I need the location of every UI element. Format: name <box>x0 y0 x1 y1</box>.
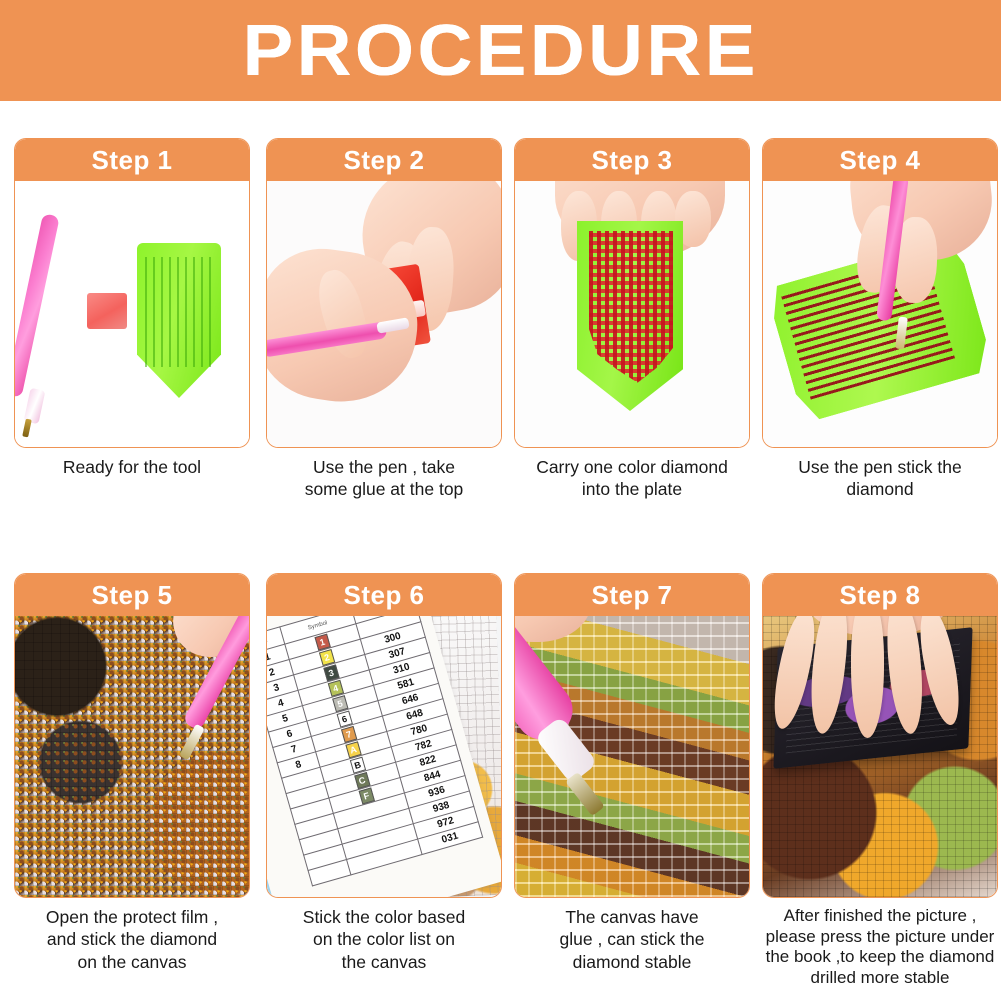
step-1-photo <box>15 181 249 447</box>
step-5-illustration <box>15 616 249 897</box>
sunflower-canvas-mosaic-icon <box>15 616 249 897</box>
step-7-card-frame: Step 7 <box>514 573 750 898</box>
step-card-3: Step 3 Carry one color diamond into the … <box>514 138 750 448</box>
step-4-card-frame: Step 4 <box>762 138 998 448</box>
step-3-illustration <box>515 181 749 447</box>
step-6-badge-label: Step 6 <box>343 582 424 608</box>
step-4-badge-label: Step 4 <box>839 147 920 173</box>
step-2-caption: Use the pen , take some glue at the top <box>266 456 502 501</box>
step-1-badge: Step 1 <box>15 139 249 181</box>
pen-tip-icon <box>22 419 32 438</box>
step-2-badge: Step 2 <box>267 139 501 181</box>
step-3-caption: Carry one color diamond into the plate <box>514 456 750 501</box>
step-7-badge-label: Step 7 <box>591 582 672 608</box>
step-8-photo <box>763 616 997 897</box>
step-6-illustration: No. Symbol DMC 1122300333074431055581666… <box>267 616 501 897</box>
step-5-photo <box>15 616 249 897</box>
step-8-badge: Step 8 <box>763 574 997 616</box>
step-3-photo <box>515 181 749 447</box>
step-card-7: Step 7 The canvas have glue , can stick … <box>514 573 750 898</box>
step-1-illustration <box>15 181 249 447</box>
step-1-caption: Ready for the tool <box>14 456 250 478</box>
steps-row-top: Step 1 Ready for the tool <box>0 138 1001 538</box>
step-7-badge: Step 7 <box>515 574 749 616</box>
step-5-card-frame: Step 5 <box>14 573 250 898</box>
step-5-caption: Open the protect film , and stick the di… <box>14 906 250 973</box>
step-3-badge-label: Step 3 <box>591 147 672 173</box>
step-2-card-frame: Step 2 <box>266 138 502 448</box>
step-card-2: Step 2 Use the pen , <box>266 138 502 448</box>
step-8-badge-label: Step 8 <box>839 582 920 608</box>
step-7-caption: The canvas have glue , can stick the dia… <box>514 906 750 973</box>
step-8-card-frame: Step 8 <box>762 573 998 898</box>
step-2-badge-label: Step 2 <box>343 147 424 173</box>
pink-pen-icon <box>15 213 60 397</box>
step-4-photo <box>763 181 997 447</box>
step-6-caption: Stick the color based on the color list … <box>266 906 502 973</box>
glue-square-icon <box>87 293 127 329</box>
procedure-infographic: PROCEDURE Step 1 <box>0 0 1001 1001</box>
step-3-card-frame: Step 3 <box>514 138 750 448</box>
page-header-banner: PROCEDURE <box>0 0 1001 101</box>
step-8-illustration <box>763 616 997 897</box>
step-4-illustration <box>763 181 997 447</box>
step-5-badge: Step 5 <box>15 574 249 616</box>
step-6-badge: Step 6 <box>267 574 501 616</box>
step-6-photo: No. Symbol DMC 1122300333074431055581666… <box>267 616 501 897</box>
step-card-4: Step 4 Use the pen stick the diamond <box>762 138 998 448</box>
step-card-5: Step 5 Open the protect film , and stick… <box>14 573 250 898</box>
page-title: PROCEDURE <box>242 15 758 87</box>
steps-row-bottom: Step 5 Open the protect film , and stick… <box>0 573 1001 993</box>
step-card-8: Step 8 After finished <box>762 573 998 898</box>
step-2-illustration <box>267 181 501 447</box>
tray-grooves-icon <box>145 257 213 367</box>
step-7-illustration <box>515 616 749 897</box>
step-4-caption: Use the pen stick the diamond <box>762 456 998 501</box>
step-card-6: Step 6 No. Symbol DMC <box>266 573 502 898</box>
step-4-badge: Step 4 <box>763 139 997 181</box>
step-7-photo <box>515 616 749 897</box>
step-5-badge-label: Step 5 <box>91 582 172 608</box>
step-1-card-frame: Step 1 <box>14 138 250 448</box>
step-2-photo <box>267 181 501 447</box>
step-6-card-frame: Step 6 No. Symbol DMC <box>266 573 502 898</box>
step-3-badge: Step 3 <box>515 139 749 181</box>
step-1-badge-label: Step 1 <box>91 147 172 173</box>
step-8-caption: After finished the picture , please pres… <box>751 906 1001 989</box>
step-card-1: Step 1 Ready for the tool <box>14 138 250 448</box>
